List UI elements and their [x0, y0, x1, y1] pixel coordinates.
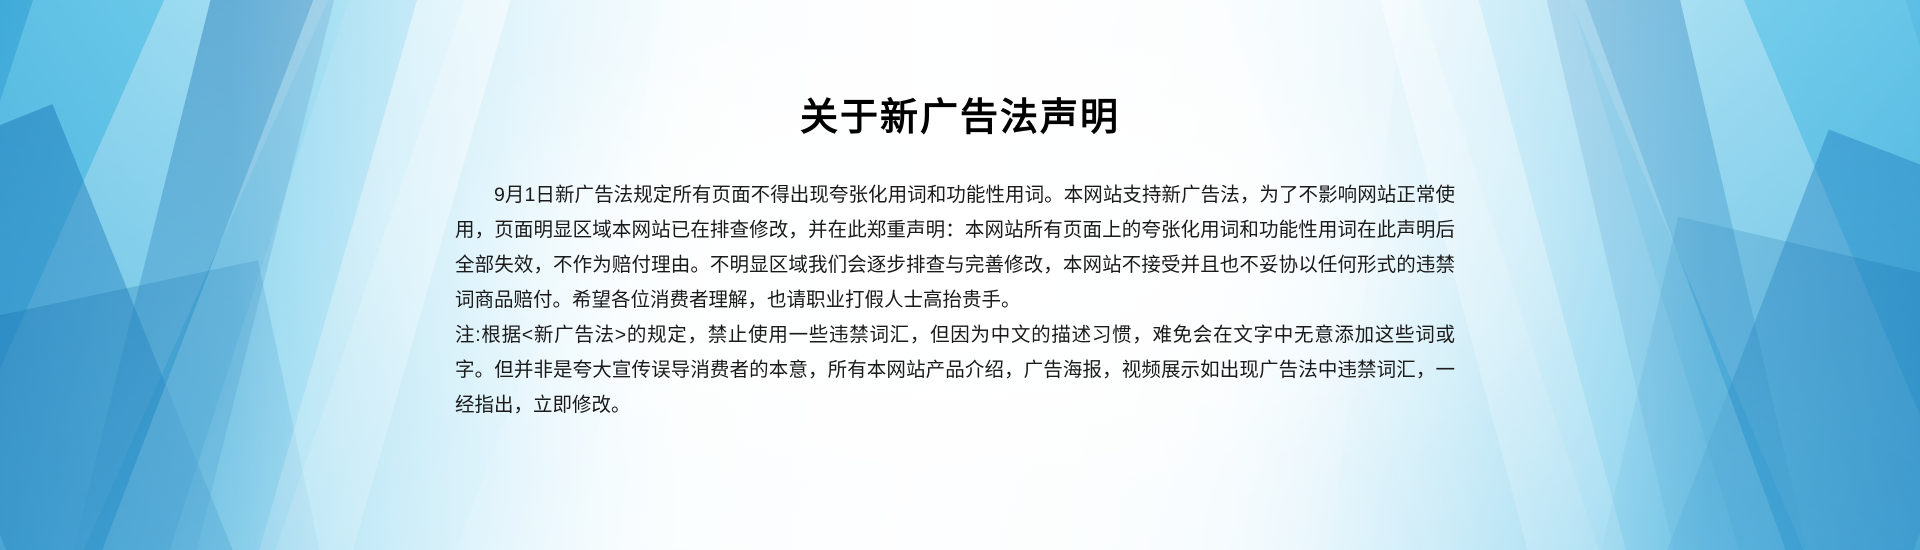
- statement-content: 关于新广告法声明 9月1日新广告法规定所有页面不得出现夸张化用词和功能性用词。本…: [0, 0, 1920, 550]
- statement-body: 9月1日新广告法规定所有页面不得出现夸张化用词和功能性用词。本网站支持新广告法，…: [455, 178, 1455, 423]
- statement-paragraph-1: 9月1日新广告法规定所有页面不得出现夸张化用词和功能性用词。本网站支持新广告法，…: [455, 178, 1455, 318]
- advertising-law-statement-banner: 关于新广告法声明 9月1日新广告法规定所有页面不得出现夸张化用词和功能性用词。本…: [0, 0, 1920, 550]
- statement-paragraph-2: 注:根据<新广告法>的规定，禁止使用一些违禁词汇，但因为中文的描述习惯，难免会在…: [455, 318, 1455, 423]
- page-title: 关于新广告法声明: [0, 86, 1920, 141]
